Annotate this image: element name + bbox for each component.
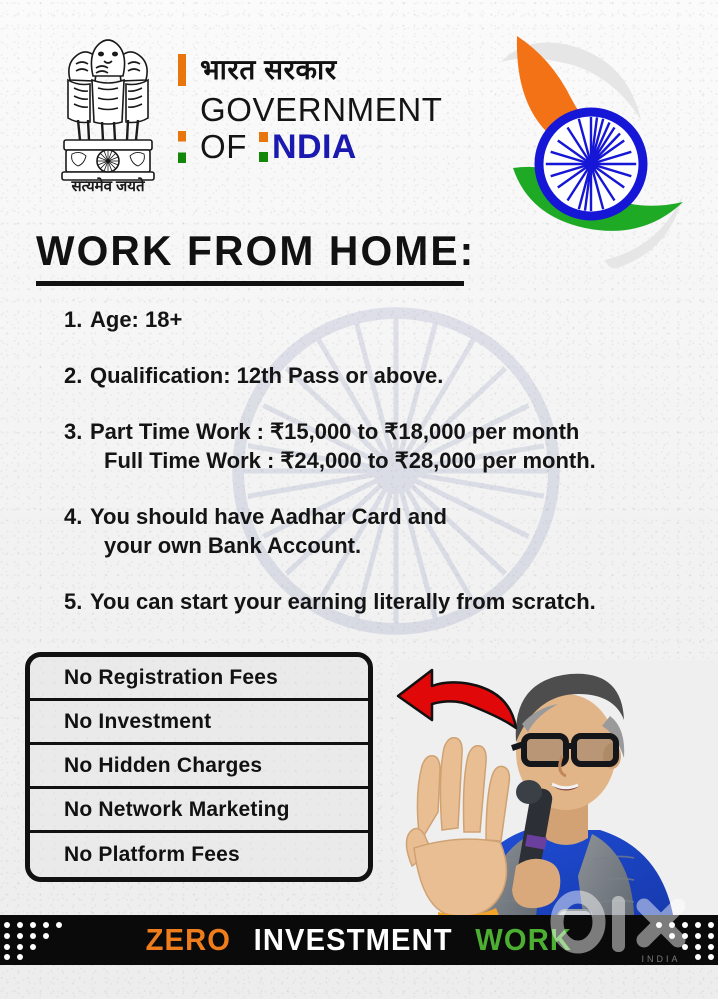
lion-capital-emblem-icon: सत्यमेव जयते [52,28,164,194]
list-item: 2. Qualification: 12th Pass or above. [64,361,694,390]
list-item-line1: Part Time Work : ₹15,000 to ₹18,000 per … [90,419,579,444]
dot-pattern-left-icon [2,919,74,961]
list-item-text: Age: 18+ [90,305,182,334]
saffron-bar-icon [178,54,186,86]
list-item-line1: Age: 18+ [90,307,182,332]
bottom-banner: ZERO INVESTMENT WORK [0,915,718,965]
list-item-line2: your own Bank Account. [90,531,447,560]
no-fees-label: No Network Marketing [64,798,290,822]
list-item-line2: Full Time Work : ₹24,000 to ₹28,000 per … [90,446,596,475]
list-item: 3. Part Time Work : ₹15,000 to ₹18,000 p… [64,417,694,475]
no-fees-label: No Investment [64,710,211,734]
list-item-number: 1. [64,305,90,334]
list-item-line1: You can start your earning literally fro… [90,589,596,614]
banner-word-investment: INVESTMENT [254,922,453,958]
list-item: No Platform Fees [30,833,368,877]
title-underline [36,281,464,286]
list-item-number: 2. [64,361,90,390]
no-fees-box: No Registration Fees No Investment No Hi… [25,652,373,882]
list-item-text: You can start your earning literally fro… [90,587,596,616]
list-item: No Network Marketing [30,789,368,833]
banner-word-zero: ZERO [146,922,231,958]
tricolor-bar-icon [178,131,186,163]
banner-text-group: ZERO INVESTMENT WORK [146,922,572,958]
list-item: No Registration Fees [30,657,368,701]
list-item-text: Qualification: 12th Pass or above. [90,361,443,390]
page-title: WORK FROM HOME: [36,230,492,272]
list-item-line1: Qualification: 12th Pass or above. [90,363,443,388]
government-word: GOVERNMENT [200,92,443,128]
red-arrow-icon [388,662,528,740]
emblem-caption: सत्यमेव जयते [70,177,145,194]
list-item: 5. You can start your earning literally … [64,587,694,616]
hindi-title-row: भारत सरकार [178,50,443,90]
india-word: NDIA [272,130,357,164]
list-item: 4. You should have Aadhar Card and your … [64,502,694,560]
list-item-text: You should have Aadhar Card and your own… [90,502,447,560]
hindi-title: भारत सरकार [200,56,337,84]
list-item-number: 5. [64,587,90,616]
no-fees-label: No Hidden Charges [64,754,262,778]
of-india-row: OF NDIA [178,130,443,164]
dot-pattern-right-icon [644,919,716,961]
requirements-list: 1. Age: 18+ 2. Qualification: 12th Pass … [64,305,694,643]
no-fees-label: No Registration Fees [64,666,278,690]
indian-flag-swoosh-icon [483,22,715,280]
banner-word-work: WORK [475,922,572,958]
list-item: No Investment [30,701,368,745]
poster-canvas: सत्यमेव जयते भारत सरकार GOVERNMENT OF ND… [0,0,718,999]
page-title-block: WORK FROM HOME: [36,230,506,286]
list-item: 1. Age: 18+ [64,305,694,334]
no-fees-label: No Platform Fees [64,843,240,867]
list-item-text: Part Time Work : ₹15,000 to ₹18,000 per … [90,417,596,475]
of-word: OF [200,130,247,163]
gov-text-block: भारत सरकार GOVERNMENT OF NDIA [178,50,443,164]
list-item-line1: You should have Aadhar Card and [90,504,447,529]
government-of-india-header: सत्यमेव जयते भारत सरकार GOVERNMENT OF ND… [52,28,443,194]
list-item-number: 4. [64,502,90,531]
india-tricolor-i-icon [259,132,268,162]
list-item: No Hidden Charges [30,745,368,789]
list-item-number: 3. [64,417,90,446]
